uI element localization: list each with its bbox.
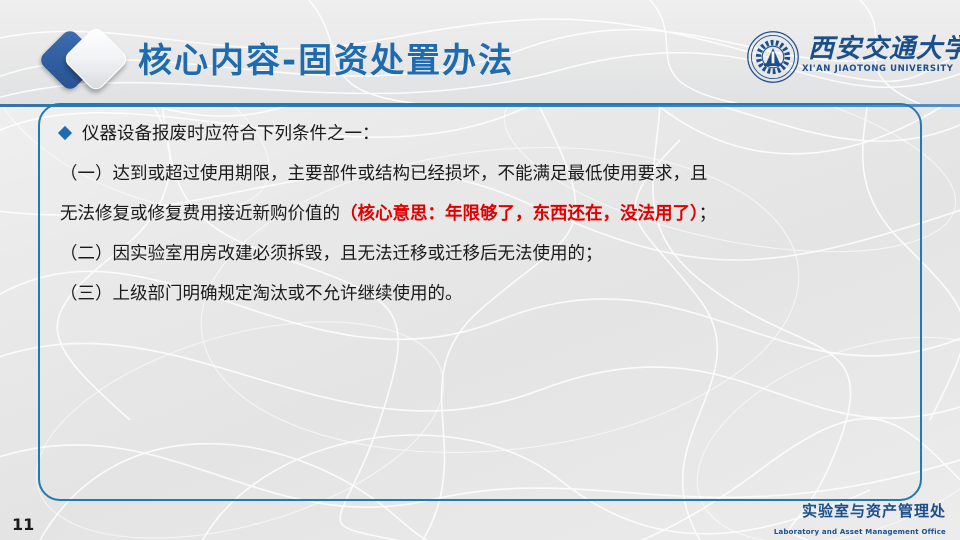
diamond-pair-logo-icon [42,27,138,93]
content-line-item1-b: 无法修复或修复费用接近新购价值的（核心意思：年限够了，东西还在，没法用了）； [60,194,908,234]
university-name-cn: 西安交通大学 [808,28,940,65]
content-line-intro-text: 仪器设备报废时应符合下列条件之一： [82,124,380,144]
content-body: 仪器设备报废时应符合下列条件之一： （一）达到或超过使用期限，主要部件或结构已经… [60,114,908,314]
content-emphasis-red: （核心意思：年限够了，东西还在，没法用了） [340,204,699,224]
page-number: 11 [12,515,34,534]
diamond-bullet-icon [58,126,72,140]
university-logo: 西安交通大学 XI'AN JIAOTONG UNIVERSITY [736,22,946,92]
footer-organization-en: Laboratory and Asset Management Office [774,528,946,536]
slide-header: 核心内容-固资处置办法 西安交通大学 XI'AN JIAOTONG UNIVER… [0,0,960,108]
content-line-item1-b-prefix: 无法修复或修复费用接近新购价值的 [60,204,340,224]
slide-canvas: 核心内容-固资处置办法 西安交通大学 XI'AN JIAOTONG UNIVER… [0,0,960,540]
content-line-intro: 仪器设备报废时应符合下列条件之一： [60,114,908,154]
content-line-item2: （二）因实验室用房改建必须拆毁，且无法迁移或迁移后无法使用的； [60,234,908,274]
university-seal-icon [746,30,800,84]
university-name-en: XI'AN JIAOTONG UNIVERSITY [802,64,946,74]
content-line-item1-a: （一）达到或超过使用期限，主要部件或结构已经损坏，不能满足最低使用要求，且 [60,154,908,194]
content-line-item3: （三）上级部门明确规定淘汰或不允许继续使用的。 [60,274,908,314]
footer-organization-cn: 实验室与资产管理处 [802,500,946,521]
page-title: 核心内容-固资处置办法 [138,33,514,82]
content-line-item1-b-suffix: ； [699,204,717,224]
